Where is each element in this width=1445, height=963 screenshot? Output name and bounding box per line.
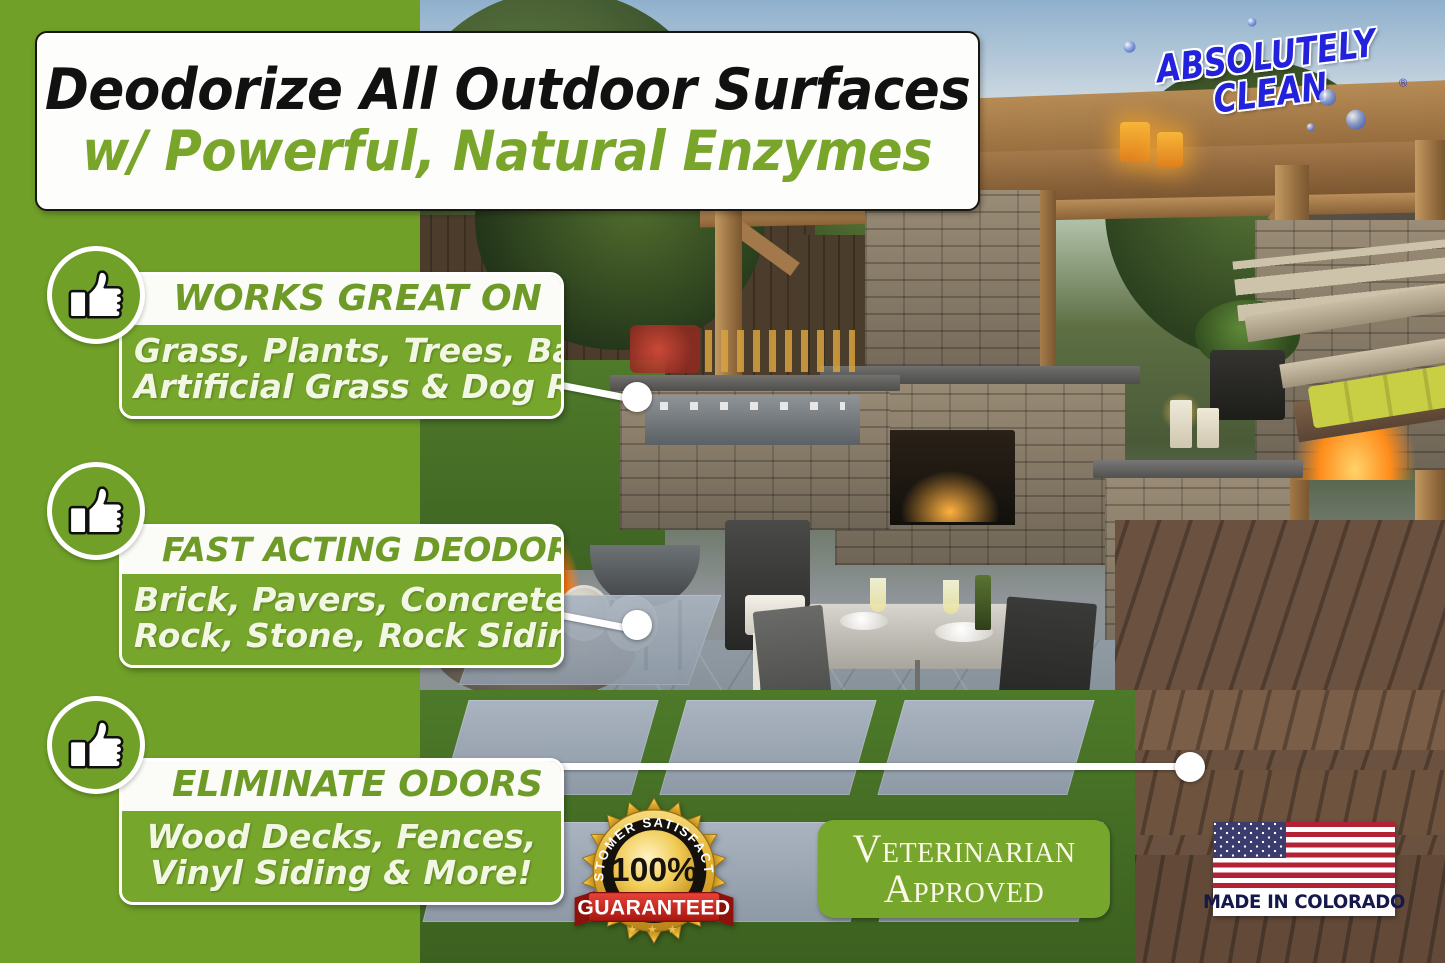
- callout-connector-dot-2: [622, 610, 652, 640]
- feature-body-line-1: Grass, Plants, Trees, Bark,: [134, 333, 549, 369]
- callout-connector-line-3: [500, 763, 1190, 770]
- thumbs-up-icon: [47, 462, 145, 560]
- fireplace-glow: [900, 470, 1000, 522]
- headline-line-1: Deodorize All Outdoor Surfaces: [45, 61, 971, 119]
- guarantee-ribbon: GUARANTEED: [575, 891, 734, 926]
- feature-body-line-2: Rock, Stone, Rock Siding: [134, 618, 549, 654]
- feature-card-3: ELIMINATE ODORS Wood Decks, Fences, Viny…: [119, 758, 564, 905]
- feature-body-line-2: Vinyl Siding & More!: [134, 855, 549, 891]
- vet-line-2: Approved: [884, 869, 1044, 908]
- flag-canton: [1213, 822, 1286, 858]
- wine-glass: [870, 578, 886, 612]
- stepping-stone: [877, 700, 1094, 795]
- feature-body-line-1: Wood Decks, Fences,: [134, 819, 549, 855]
- headline-line-2: w/ Powerful, Natural Enzymes: [82, 123, 932, 181]
- grill-knobs: [660, 402, 845, 410]
- deck-step: [1105, 690, 1445, 750]
- stone-column-cap: [1093, 460, 1303, 478]
- wine-glass: [943, 580, 959, 614]
- callout-connector-dot-3: [1175, 752, 1205, 782]
- feature-heading-1: WORKS GREAT ON: [122, 275, 561, 325]
- thumbs-up-icon: [47, 696, 145, 794]
- feature-body-2: Brick, Pavers, Concrete, Rock, Stone, Ro…: [122, 574, 561, 665]
- veterinarian-approved-badge: Veterinarian Approved: [818, 820, 1110, 918]
- hanging-lantern: [1120, 122, 1150, 162]
- feature-body-1: Grass, Plants, Trees, Bark, Artificial G…: [122, 325, 561, 416]
- guarantee-percent: 100%: [611, 851, 697, 889]
- guarantee-badge: CUSTOMER SATISFACTION 100% GUARANTEED ★ …: [568, 793, 740, 945]
- feature-card-2: FAST ACTING DEODORIZER Brick, Pavers, Co…: [119, 524, 564, 668]
- thumbs-up-icon: [47, 246, 145, 344]
- pillar-candle: [1170, 400, 1192, 448]
- guarantee-ribbon-text: GUARANTEED: [577, 897, 730, 920]
- feature-heading-2: FAST ACTING DEODORIZER: [122, 527, 561, 574]
- dinner-plate: [840, 612, 888, 630]
- bottles-on-counter: [705, 330, 855, 372]
- product-ad-banner: Deodorize All Outdoor Surfaces w/ Powerf…: [0, 0, 1445, 963]
- hanging-lantern: [1157, 132, 1183, 167]
- us-flag-icon: [1213, 822, 1395, 888]
- callout-connector-dot-1: [622, 382, 652, 412]
- flag-stars: [1213, 822, 1286, 858]
- feature-body-line-1: Brick, Pavers, Concrete,: [134, 582, 549, 618]
- made-in-colorado-label: MADE IN COLORADO: [1218, 888, 1391, 916]
- made-in-colorado-badge: MADE IN COLORADO: [1213, 822, 1395, 916]
- kitchenware: [630, 325, 700, 373]
- planter-pot: [1210, 350, 1285, 420]
- stepping-stone: [659, 700, 876, 795]
- feature-card-1: WORKS GREAT ON Grass, Plants, Trees, Bar…: [119, 272, 564, 419]
- feature-heading-3: ELIMINATE ODORS: [122, 761, 561, 811]
- registered-trademark-icon: ®: [1397, 76, 1410, 90]
- wine-bottle: [975, 575, 991, 630]
- feature-body-3: Wood Decks, Fences, Vinyl Siding & More!: [122, 811, 561, 902]
- headline-box: Deodorize All Outdoor Surfaces w/ Powerf…: [35, 31, 980, 211]
- pillar-candle: [1197, 408, 1219, 448]
- counter-top-slab: [610, 375, 900, 391]
- feature-body-line-2: Artificial Grass & Dog Runs: [134, 369, 549, 405]
- vet-line-1: Veterinarian: [852, 830, 1075, 868]
- guarantee-stars: ★ ★ ★: [627, 923, 680, 936]
